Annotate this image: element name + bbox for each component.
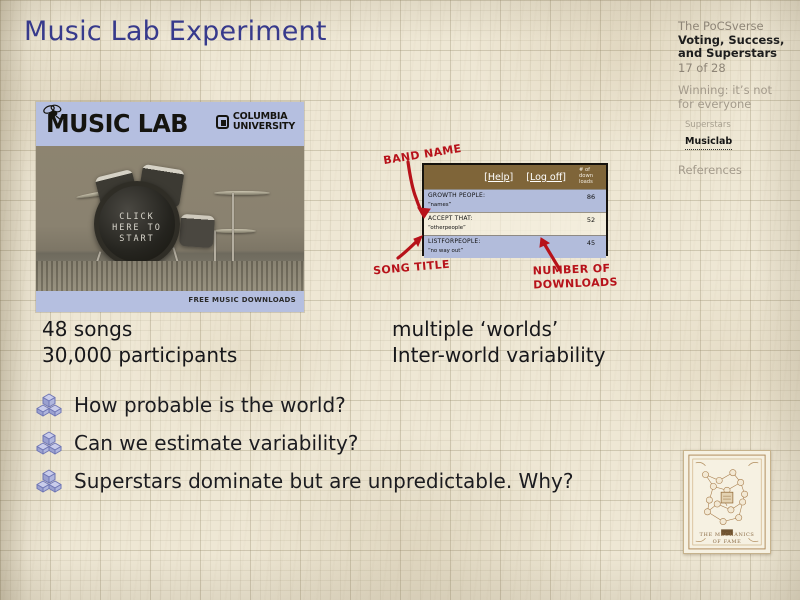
annotation-dl-line2: DOWNLOADS — [533, 276, 618, 293]
bullet-list: How probable is the world? Can we estima… — [36, 386, 676, 500]
song-title-cell: “names” — [428, 201, 576, 209]
downloads-count-cell: 45 — [576, 236, 606, 258]
start-line3: START — [99, 234, 175, 245]
fame-caption-line2: OF FAME — [684, 539, 770, 546]
bullet-label: Can we estimate variability? — [74, 431, 358, 455]
bullet-label: How probable is the world? — [74, 393, 346, 417]
nav-item-superstars[interactable]: Superstars — [685, 120, 790, 130]
stat-worlds: multiple ‘worlds’ — [392, 316, 652, 342]
musiclab-header: MUSIC LAB COLUMBIA UNIVERSITY — [36, 102, 304, 146]
table-row[interactable]: GROWTH PEOPLE: “names” 86 — [424, 189, 606, 212]
stat-variability: Inter-world variability — [392, 342, 652, 368]
stat-songs: 48 songs — [42, 316, 392, 342]
bass-drum-start-button[interactable]: CLICK HERE TO START — [94, 181, 180, 267]
band-name-cell: GROWTH PEOPLE: — [428, 192, 576, 200]
drumkit-photo: CLICK HERE TO START — [36, 146, 304, 291]
downloads-count-cell: 52 — [576, 213, 606, 235]
start-line1: CLICK — [99, 212, 175, 223]
cubes-icon — [36, 431, 62, 455]
start-line2: HERE TO — [99, 223, 175, 234]
downloads-table-header: [Help] [Log off] # of down loads — [424, 165, 606, 189]
cubes-icon — [36, 393, 62, 417]
fame-caption-line1: THE MECHANICS — [684, 532, 770, 539]
columbia-university-logo: COLUMBIA UNIVERSITY — [216, 112, 295, 132]
columbia-line2: UNIVERSITY — [233, 122, 295, 132]
slide-canvas: Music Lab Experiment The PoCSverse Votin… — [0, 0, 800, 600]
downloads-table: [Help] [Log off] # of down loads GROWTH … — [422, 163, 608, 256]
cymbal-stand — [232, 193, 234, 267]
hihat-icon — [212, 229, 256, 233]
table-row[interactable]: LISTFORPEOPLE: “no way out” 45 — [424, 235, 606, 258]
song-title-cell: “no way out” — [428, 247, 576, 255]
help-link[interactable]: [Help] — [484, 172, 513, 183]
nav-deck-title: Voting, Success, and Superstars — [678, 34, 790, 61]
nav-section-label[interactable]: Winning: it’s not for everyone — [678, 84, 790, 112]
band-name-cell: LISTFORPEOPLE: — [428, 238, 576, 246]
annotation-number-of-downloads: NUMBER OF DOWNLOADS — [533, 262, 619, 293]
band-name-cell: ACCEPT THAT: — [428, 215, 576, 223]
downloads-count-cell: 86 — [576, 190, 606, 212]
cubes-icon — [36, 469, 62, 493]
list-item: How probable is the world? — [36, 386, 676, 424]
nav-item-references[interactable]: References — [678, 164, 790, 178]
stats-block: 48 songs multiple ‘worlds’ 30,000 partic… — [42, 316, 652, 368]
downloads-column-header: # of down loads — [576, 165, 606, 189]
slide-counter: 17 of 28 — [678, 62, 790, 76]
nav-panel: The PoCSverse Voting, Success, and Super… — [678, 20, 790, 178]
song-title-cell: “otherpeople” — [428, 224, 576, 232]
logoff-link[interactable]: [Log off] — [526, 172, 566, 183]
snare-drum — [179, 214, 215, 248]
table-row[interactable]: ACCEPT THAT: “otherpeople” 52 — [424, 212, 606, 235]
mechanics-of-fame-logo[interactable]: THE MECHANICS OF FAME — [683, 450, 771, 554]
nav-item-musiclab[interactable]: Musiclab — [685, 136, 732, 150]
bullet-label: Superstars dominate but are unpredictabl… — [74, 469, 573, 493]
dl-hdr-3: loads — [579, 179, 606, 185]
page-title: Music Lab Experiment — [24, 16, 327, 47]
musiclab-logo-text: MUSIC LAB — [46, 109, 188, 138]
list-item: Can we estimate variability? — [36, 424, 676, 462]
free-downloads-label: FREE MUSIC DOWNLOADS — [188, 296, 296, 304]
musiclab-footer: FREE MUSIC DOWNLOADS — [36, 291, 304, 312]
studio-floor — [36, 261, 304, 291]
columbia-crown-icon — [216, 115, 229, 129]
stat-participants: 30,000 participants — [42, 342, 392, 368]
musiclab-screenshot[interactable]: MUSIC LAB COLUMBIA UNIVERSITY CL — [36, 102, 304, 312]
cymbal-icon — [214, 191, 270, 195]
nav-deck-label: The PoCSverse — [678, 20, 790, 34]
list-item: Superstars dominate but are unpredictabl… — [36, 462, 676, 500]
